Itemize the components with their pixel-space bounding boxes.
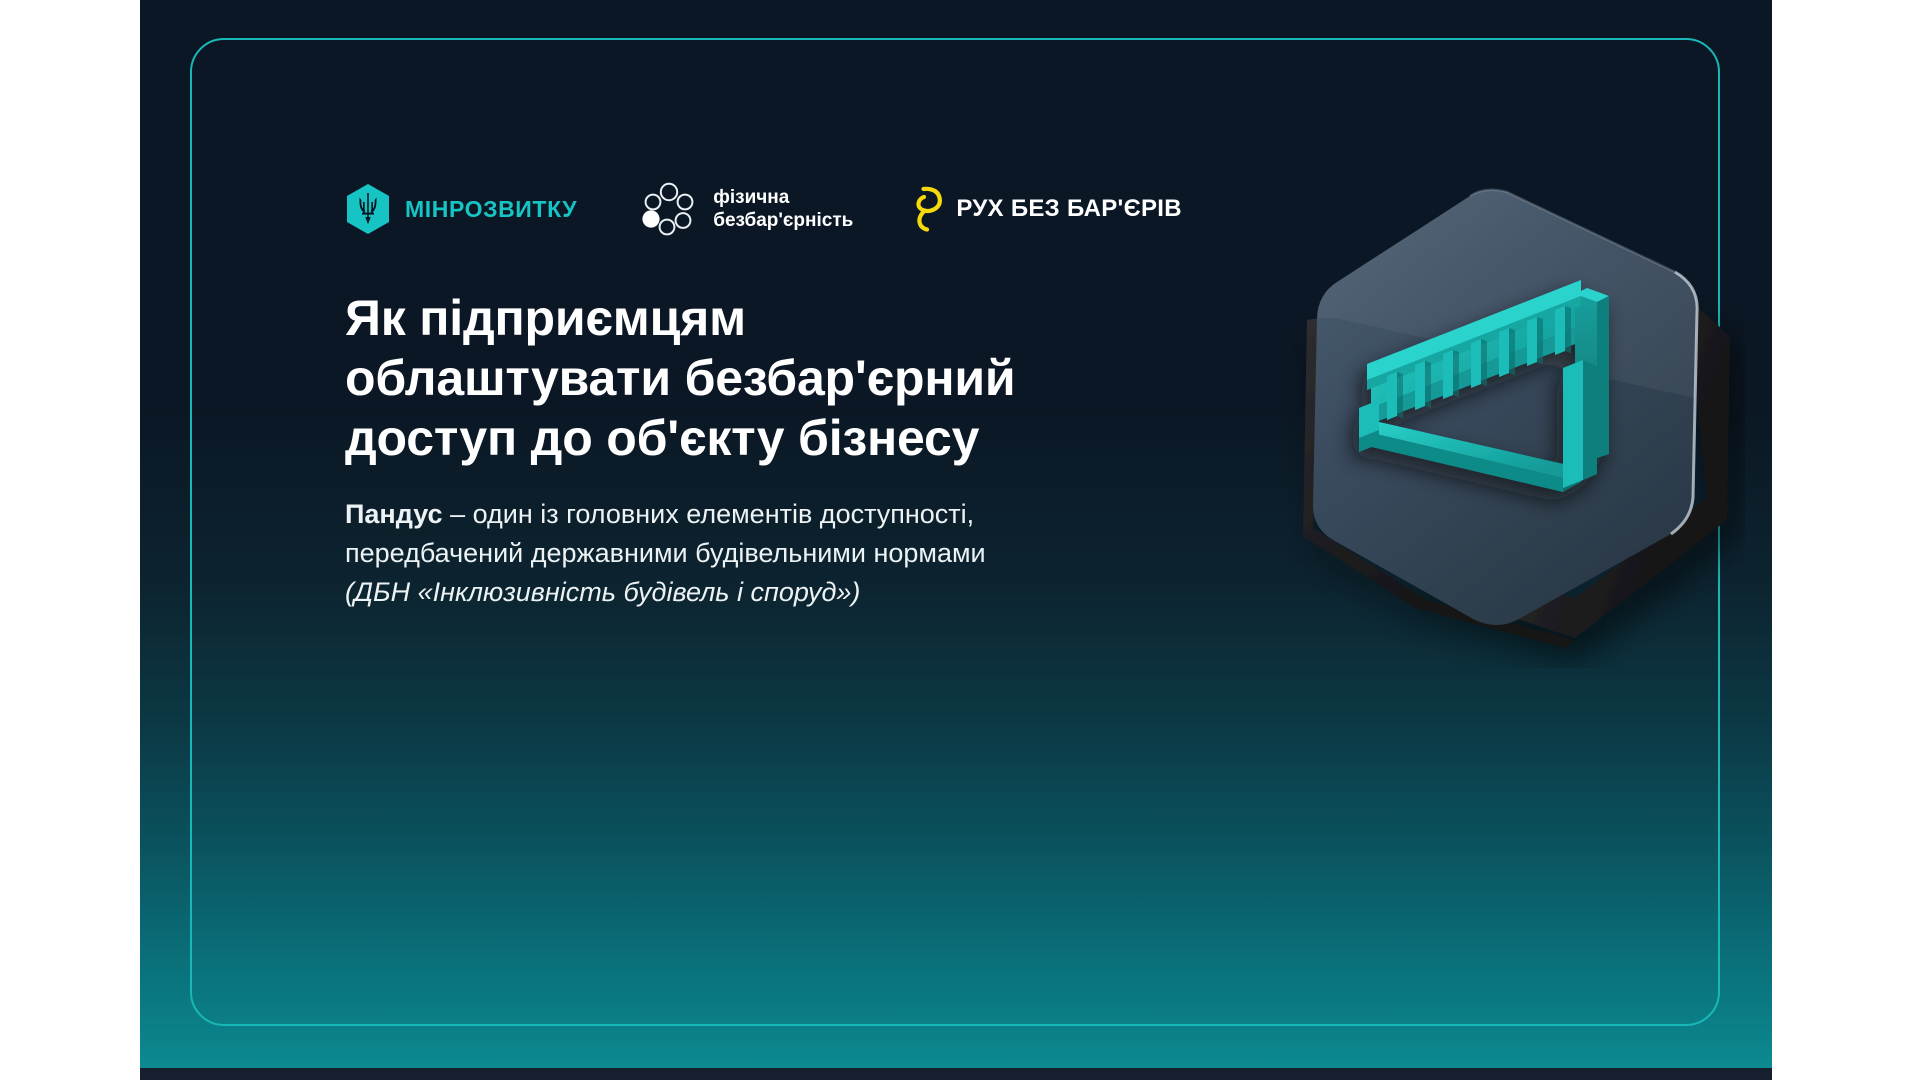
slide-canvas: МІНРОЗВИТКУ фізичнабезбар'єрність bbox=[140, 0, 1772, 1068]
slide-bottom-edge bbox=[140, 1068, 1772, 1080]
partner-logo-row: МІНРОЗВИТКУ фізичнабезбар'єрність bbox=[345, 182, 1182, 236]
logo-minrozvytku-label: МІНРОЗВИТКУ bbox=[405, 196, 577, 223]
logo-bezbarjernist: фізичнабезбар'єрність bbox=[639, 182, 853, 236]
logo-ruh-bez-barjeriv: РУХ БЕЗ БАР'ЄРІВ bbox=[915, 185, 1182, 233]
wheelchair-ramp-3d-hexagon-icon bbox=[1275, 168, 1745, 668]
logo-ruh-label: РУХ БЕЗ БАР'ЄРІВ bbox=[956, 195, 1182, 223]
logo-minrozvytku: МІНРОЗВИТКУ bbox=[345, 183, 577, 235]
logo-bezbarjernist-label-line1: фізична bbox=[713, 187, 789, 208]
headline-line-1: Як підприємцям bbox=[345, 288, 1105, 348]
six-circles-ring-icon bbox=[639, 182, 699, 236]
subtitle-norm-reference: (ДБН «Інклюзивність будівель і споруд») bbox=[345, 577, 860, 607]
logo-bezbarjernist-label-line2: безбар'єрність bbox=[713, 210, 853, 231]
yellow-ribbon-loop-icon bbox=[915, 185, 945, 233]
logo-bezbarjernist-label: фізичнабезбар'єрність bbox=[713, 186, 853, 232]
headline-line-2: облаштувати безбар'єрний bbox=[345, 348, 1105, 408]
ukrainian-trident-hexagon-icon bbox=[345, 183, 391, 235]
headline-line-3: доступ до об'єкту бізнесу bbox=[345, 408, 1105, 468]
slide-subtitle: Пандус – один із головних елементів дост… bbox=[345, 495, 1045, 612]
subtitle-lead-term: Пандус bbox=[345, 499, 443, 529]
slide-headline: Як підприємцям облаштувати безбар'єрний … bbox=[345, 288, 1105, 468]
